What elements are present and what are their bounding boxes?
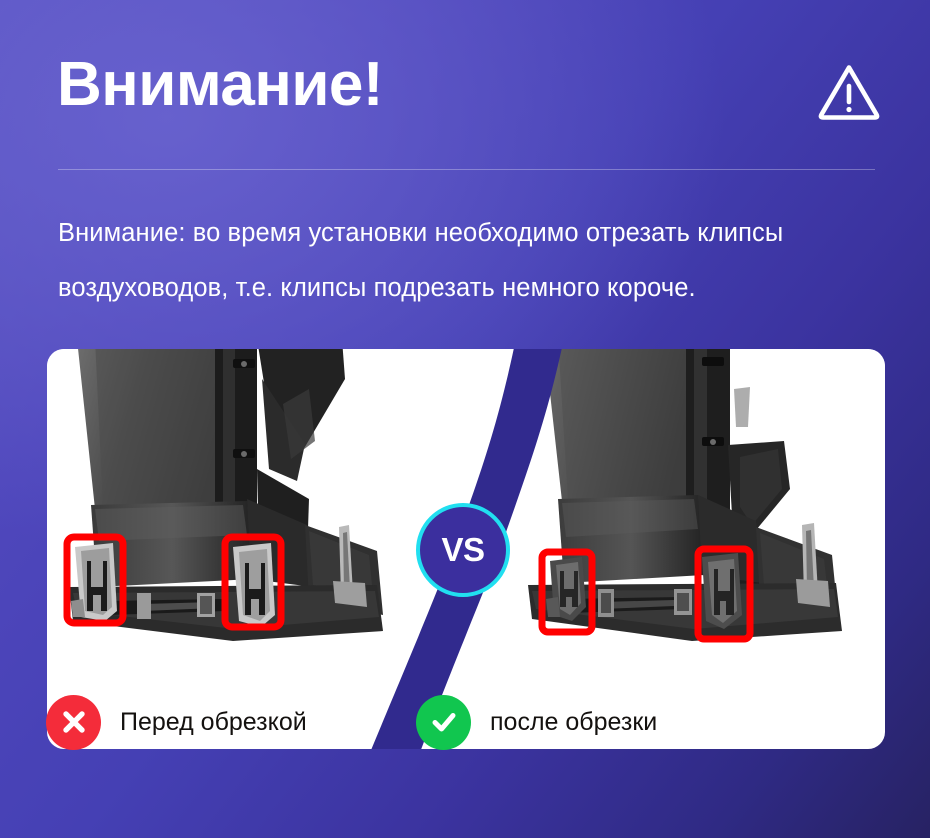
photo-after-trim: [502, 349, 885, 694]
page-title: Внимание!: [57, 54, 383, 116]
header-divider: [58, 169, 875, 170]
warning-banner: Внимание! Внимание: во время установки н…: [0, 0, 930, 838]
header: Внимание!: [0, 0, 930, 175]
check-icon: [416, 695, 471, 750]
caption-before-trim: Перед обрезкой: [46, 694, 307, 750]
warning-message: Внимание: во время установки необходимо …: [58, 206, 888, 316]
clip-right-cut: [702, 553, 742, 629]
caption-after-trim: после обрезки: [416, 694, 657, 750]
vs-label: VS: [441, 533, 484, 566]
caption-before-label: Перед обрезкой: [120, 708, 307, 737]
caption-after-label: после обрезки: [490, 708, 657, 737]
warning-triangle-icon: [816, 62, 882, 122]
vs-badge: VS: [416, 503, 510, 597]
cross-icon: [46, 695, 101, 750]
clip-right-uncut: [233, 543, 275, 627]
